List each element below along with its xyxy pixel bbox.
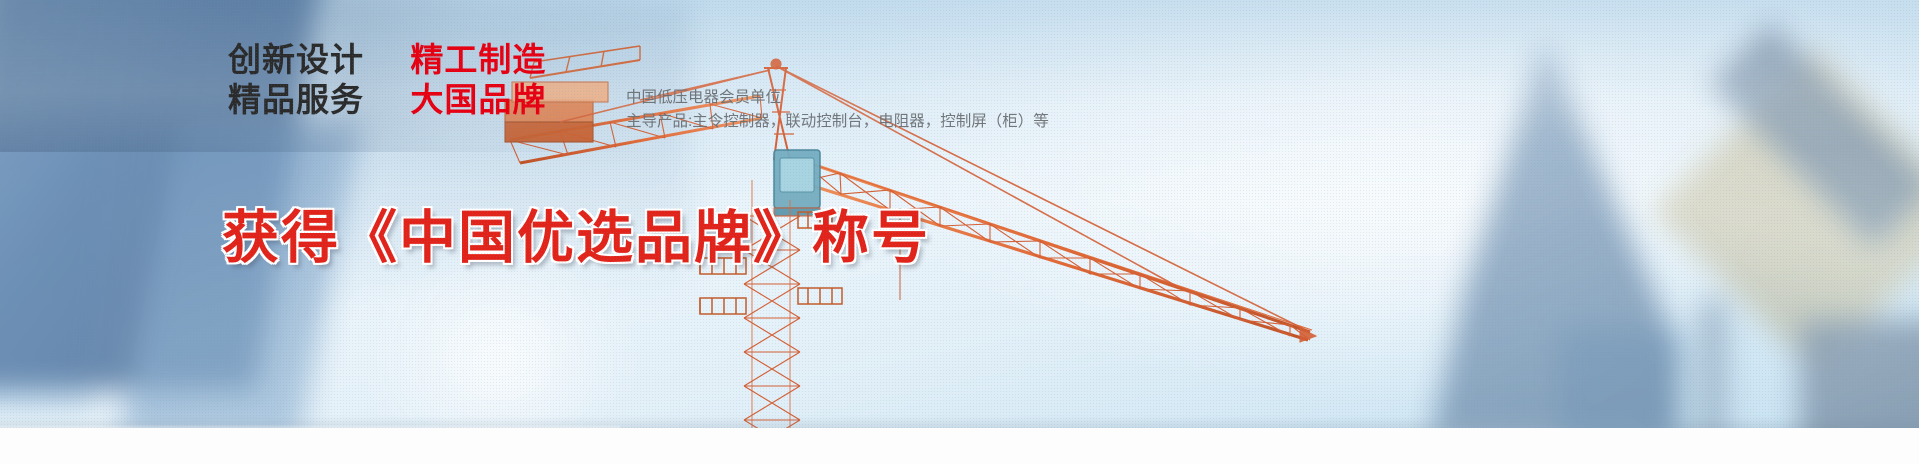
slogan-line-1-red: 精工制造 xyxy=(410,41,546,78)
promo-banner: 创新设计 精工制造 精品服务 大国品牌 中国低压电器会员单位 主导产品:主令控制… xyxy=(0,0,1919,464)
bottom-white-strip xyxy=(0,428,1919,464)
slogan-line-2: 精品服务 大国品牌 xyxy=(228,80,546,120)
slogan-block: 创新设计 精工制造 精品服务 大国品牌 xyxy=(228,40,546,120)
description-line-1: 中国低压电器会员单位 xyxy=(626,86,1049,110)
slogan-line-1-dark: 创新设计 xyxy=(228,41,364,78)
headline-text: 获得《中国优选品牌》称号 xyxy=(222,192,930,274)
description-line-2: 主导产品:主令控制器，联动控制台，电阻器，控制屏（柜）等 xyxy=(626,110,1049,134)
slogan-line-2-dark: 精品服务 xyxy=(228,81,364,118)
description-block: 中国低压电器会员单位 主导产品:主令控制器，联动控制台，电阻器，控制屏（柜）等 xyxy=(626,86,1049,134)
slogan-line-1: 创新设计 精工制造 xyxy=(228,40,546,80)
slogan-line-2-red: 大国品牌 xyxy=(410,81,546,118)
